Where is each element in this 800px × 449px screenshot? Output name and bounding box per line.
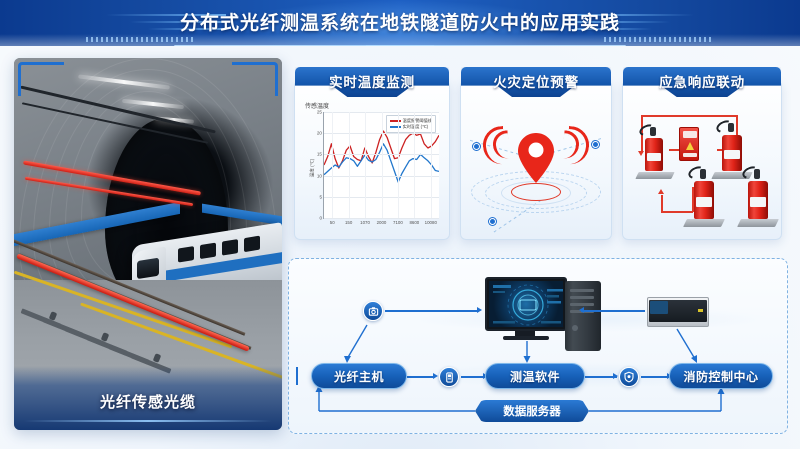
- chart-xtick: 2000: [377, 220, 387, 225]
- chart-ytick: 0: [319, 216, 322, 221]
- diagram-node-data-server[interactable]: 数据服务器: [475, 400, 589, 422]
- chart-xtick: 8600: [409, 220, 419, 225]
- chart-gridline-v: [431, 112, 432, 218]
- poster-page: 分布式光纤测温系统在地铁隧道防火中的应用实践: [0, 0, 800, 449]
- sensor-node: [473, 143, 480, 150]
- chart-gridline-v: [365, 112, 366, 218]
- card-fire-location-early-warning: 火灾定位预警: [460, 80, 612, 240]
- chart-xtick: 10080: [425, 220, 437, 225]
- chart-xtick: 150: [345, 220, 352, 225]
- card-header: 火灾定位预警: [461, 67, 611, 97]
- fire-extinguisher: [739, 169, 777, 227]
- chart-ylabel: 温度 (℃): [309, 159, 315, 178]
- chart-legend: 温度报警阈值线 实时温度 (℃): [386, 115, 436, 133]
- node-label: 数据服务器: [503, 403, 561, 419]
- node-label: 光纤主机: [334, 368, 384, 385]
- sensor-node: [489, 218, 496, 225]
- chart-xtick: 50: [330, 220, 335, 225]
- card-header: 实时温度监测: [295, 67, 449, 97]
- card-realtime-temperature-monitoring: 实时温度监测 传感温度 温度 (℃) 温度报警阈值线 实时温度 (℃) 0510…: [294, 80, 450, 240]
- card-title: 实时温度监测: [295, 71, 449, 91]
- chart-xtick: 1070: [360, 220, 370, 225]
- card-emergency-response-linkage: 应急响应联动: [622, 80, 782, 240]
- chart-gridline-v: [398, 112, 399, 218]
- system-architecture-diagram: 光纤主机 测温软件 消防控制中心 数据服务器: [288, 258, 788, 434]
- chart-gridline-v: [349, 112, 350, 218]
- chart-plot-area: 温度报警阈值线 实时温度 (℃) 05101520255015010702000…: [323, 112, 439, 219]
- node-label: 消防控制中心: [683, 368, 758, 385]
- sensor-node: [592, 141, 599, 148]
- frame-corner-top-right: [232, 62, 278, 96]
- frame-corner-top-left: [18, 62, 64, 96]
- node-label: 测温软件: [510, 368, 560, 385]
- fire-location-pin: [513, 129, 559, 194]
- fire-location-graphic: [461, 99, 611, 239]
- diagram-node-fiber-host[interactable]: 光纤主机: [311, 363, 407, 389]
- diagram-node-temperature-software[interactable]: 测温软件: [485, 363, 585, 389]
- title-banner: 分布式光纤测温系统在地铁隧道防火中的应用实践: [0, 0, 800, 46]
- emergency-linkage-graphic: [623, 99, 781, 239]
- chart-ytick: 5: [319, 194, 322, 199]
- chart-gridline-v: [414, 112, 415, 218]
- subway-tunnel-photo: 光纤传感光缆: [14, 58, 282, 430]
- card-header: 应急响应联动: [623, 67, 781, 97]
- card-title: 应急响应联动: [623, 71, 781, 91]
- card-title: 火灾定位预警: [461, 71, 611, 91]
- chart-ytick: 20: [317, 131, 322, 136]
- chart-ytick: 15: [317, 152, 322, 157]
- diagram-node-fire-control-center[interactable]: 消防控制中心: [669, 363, 773, 389]
- temperature-chart: 传感温度 温度 (℃) 温度报警阈值线 实时温度 (℃) 05101520255…: [301, 101, 445, 235]
- chart-gridline-v: [332, 112, 333, 218]
- photo-caption: 光纤传感光缆: [14, 391, 282, 412]
- fire-extinguisher: [637, 127, 673, 179]
- chart-gridline-v: [382, 112, 383, 218]
- chart-ytick: 25: [317, 110, 322, 115]
- chart-gridline: [324, 218, 439, 219]
- page-title: 分布式光纤测温系统在地铁隧道防火中的应用实践: [0, 8, 800, 35]
- chart-xtick: 7100: [393, 220, 403, 225]
- fire-extinguisher: [685, 169, 723, 227]
- legend-label-1: 实时温度 (℃): [403, 124, 428, 130]
- chart-ytick: 10: [317, 173, 322, 178]
- fire-control-panel: [679, 127, 699, 161]
